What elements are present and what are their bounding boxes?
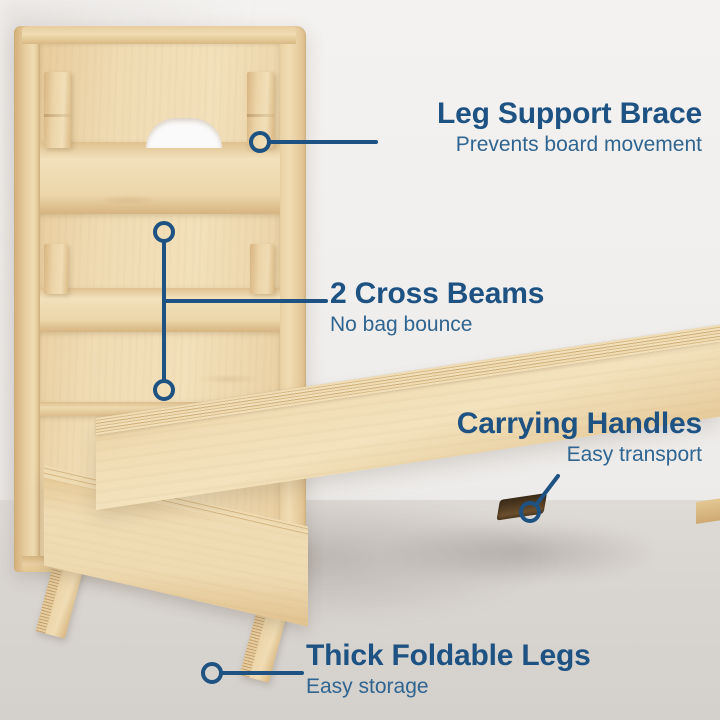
callout-thick-foldable-legs: Thick Foldable Legs Easy storage: [306, 640, 591, 700]
infographic-canvas: Leg Support Brace Prevents board movemen…: [0, 0, 720, 720]
callout-carrying-handles: Carrying Handles Easy transport: [457, 408, 702, 468]
wood-knot: [158, 372, 280, 386]
callout-subtitle: Prevents board movement: [437, 132, 702, 158]
leg-support-brace-right: [247, 72, 274, 148]
leg-support-brace-left: [44, 72, 71, 148]
carrying-handle-slot: [496, 493, 547, 521]
callout-title: 2 Cross Beams: [330, 278, 544, 309]
callout-title: Thick Foldable Legs: [306, 640, 591, 671]
callout-subtitle: No bag bounce: [330, 312, 544, 338]
board-rail-top: [22, 26, 296, 44]
leg-stop-block-right: [250, 244, 274, 294]
callout-title: Leg Support Brace: [437, 98, 702, 129]
callout-subtitle: Easy transport: [457, 442, 702, 468]
callout-title: Carrying Handles: [457, 408, 702, 439]
callout-cross-beams: 2 Cross Beams No bag bounce: [330, 278, 544, 338]
wood-knot: [68, 192, 188, 208]
cross-beam-middle: [38, 288, 280, 332]
callout-leg-support-brace: Leg Support Brace Prevents board movemen…: [437, 98, 702, 158]
board-end-cap: [696, 498, 720, 524]
leg-stop-block-left: [44, 244, 68, 294]
callout-subtitle: Easy storage: [306, 674, 591, 700]
